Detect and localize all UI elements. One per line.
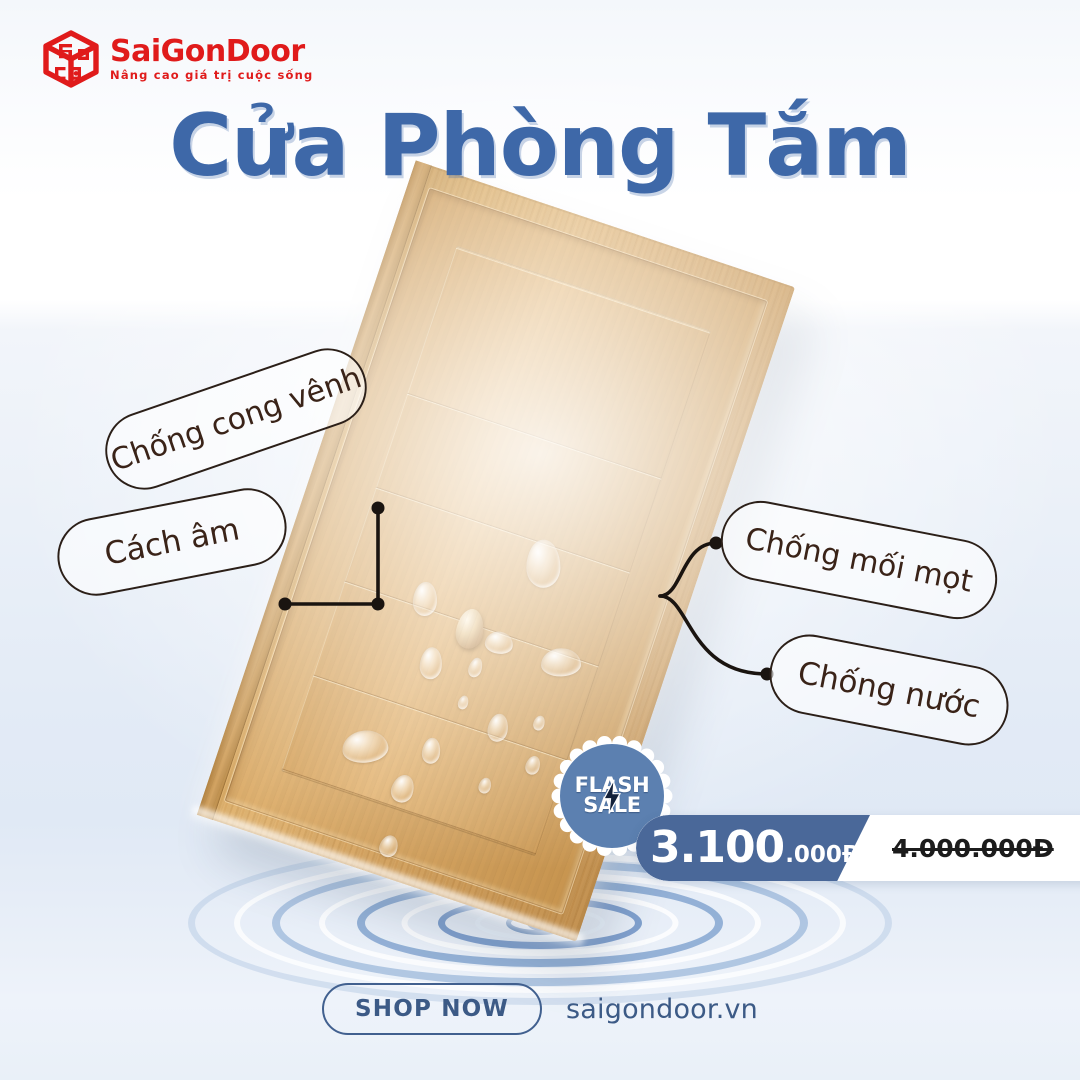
feature-label: Chống mối mọt <box>742 521 975 599</box>
feature-pill-cach-am: Cách âm <box>51 482 294 603</box>
sale-price-minor: .000Đ <box>785 822 861 881</box>
price-banner: 3.100 .000Đ 4.000.000Đ <box>636 815 1080 881</box>
page-title: Cửa Phòng Tắm <box>0 96 1080 196</box>
brand-name: SaiGonDoor <box>110 37 313 67</box>
original-price: 4.000.000Đ <box>892 815 1054 881</box>
poster-canvas: Chống cong vênh Cách âm Chống mối mọt Ch… <box>0 0 1080 1080</box>
water-droplet-icon <box>541 648 582 677</box>
feature-label: Cách âm <box>102 511 243 572</box>
sale-price-major: 3.100 <box>650 815 784 881</box>
feature-pill-chong-nuoc: Chống nước <box>763 628 1016 753</box>
brand-logo[interactable]: SaiGonDoor Nâng cao giá trị cuộc sống <box>40 28 313 90</box>
website-url[interactable]: saigondoor.vn <box>566 994 758 1025</box>
lightning-bolt-icon <box>602 780 622 814</box>
sale-price: 3.100 .000Đ <box>650 815 861 881</box>
footer-bar: SHOP NOW saigondoor.vn <box>0 983 1080 1035</box>
cube-box-icon <box>40 28 102 90</box>
brand-tagline: Nâng cao giá trị cuộc sống <box>110 70 313 82</box>
water-droplet-icon <box>526 540 560 588</box>
shop-now-button[interactable]: SHOP NOW <box>322 983 542 1035</box>
feature-label: Chống nước <box>795 655 983 726</box>
feature-pill-chong-moi-mot: Chống mối mọt <box>714 494 1004 626</box>
